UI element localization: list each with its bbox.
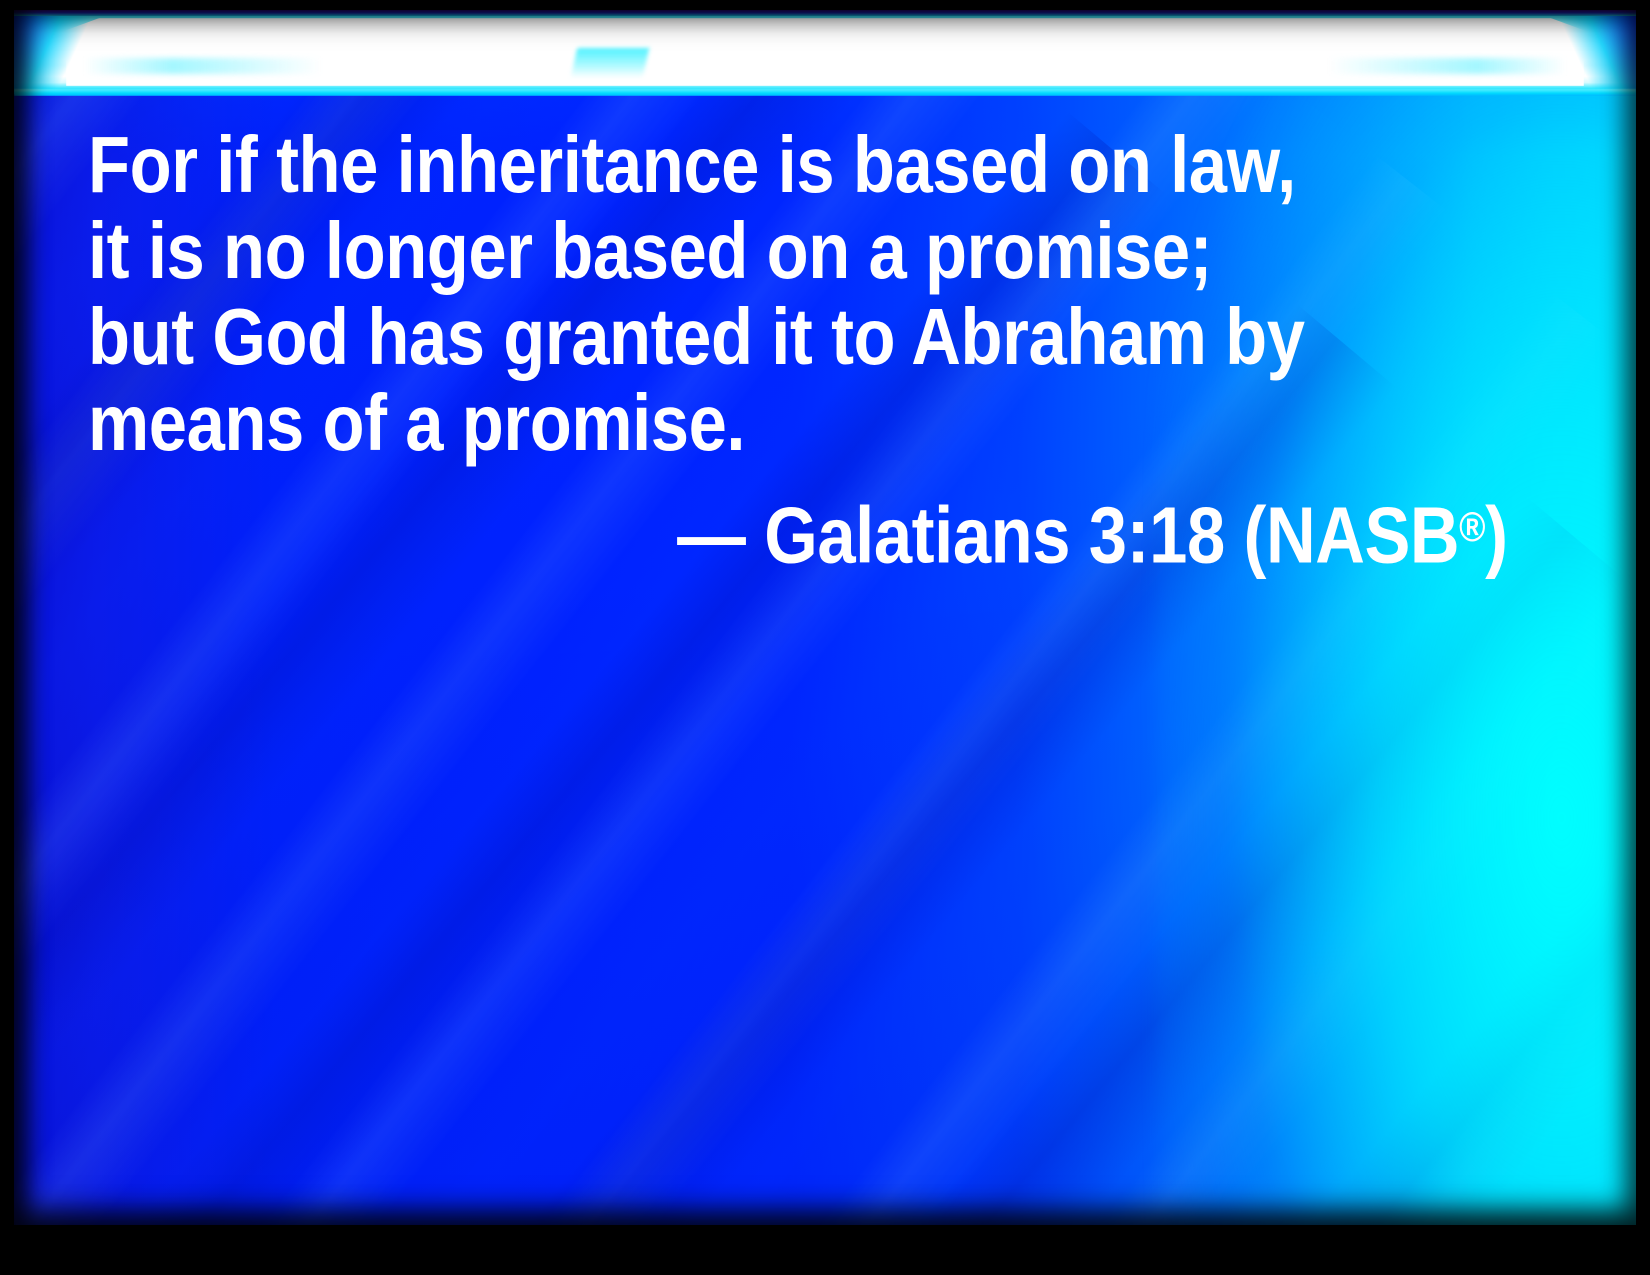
verse-body-text: For if the inheritance is based on law, … [88,122,1309,466]
header-bottom-cyan-edge [14,89,1636,96]
attribution-translation-close: ) [1486,491,1508,580]
header-inner-cyan-streak [84,58,1566,74]
header-right-cyan-corner [1546,14,1636,94]
attribution-translation-open: (NASB [1244,491,1460,580]
attribution-dash: — [678,491,746,580]
header-left-cyan-corner [14,14,104,94]
header-center-notch [571,48,649,78]
header-glow-bar [14,10,1636,96]
attribution-reference: Galatians 3:18 [765,491,1226,580]
registered-trademark-icon: ® [1460,503,1486,550]
verse-block: For if the inheritance is based on law, … [88,122,1508,579]
header-white-band [66,18,1584,86]
header-top-edge [14,10,1636,16]
verse-attribution: — Galatians 3:18 (NASB®) [88,484,1508,579]
scripture-slide: For if the inheritance is based on law, … [0,0,1650,1275]
